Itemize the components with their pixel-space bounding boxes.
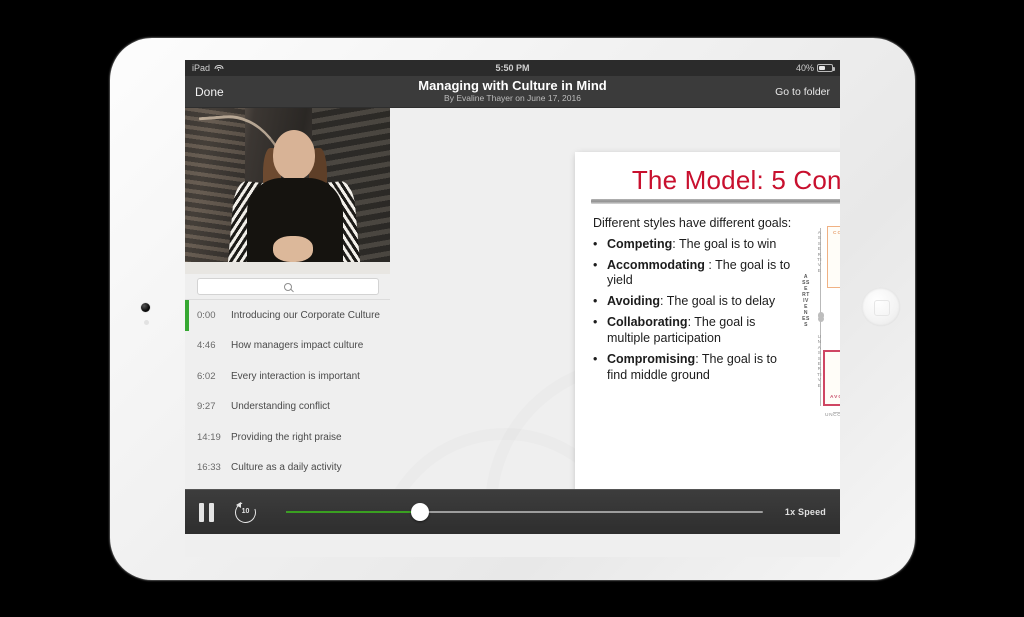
content-area: 0:00 Introducing our Corporate Culture 4… (185, 108, 840, 534)
search-input[interactable] (197, 278, 379, 295)
slide-title: The Model: 5 Conflict Modes (589, 164, 840, 196)
chapter-label: Providing the right praise (231, 432, 342, 443)
list-item: • Collaborating: The goal is multiple pa… (593, 315, 795, 346)
search-icon (284, 283, 292, 291)
chapter-time: 4:46 (197, 340, 231, 351)
slide-intro-text: Different styles have different goals: (593, 216, 795, 232)
bullet-dot-icon: • (593, 352, 607, 383)
mode-label-avoiding: AVOIDING (830, 395, 840, 400)
bullet-dot-icon: • (593, 294, 607, 310)
chapter-time: 6:02 (197, 371, 231, 382)
chapter-label: Understanding conflict (231, 401, 330, 412)
y-axis-low-label: UNASSERTIVE (816, 334, 823, 388)
screenshot-stage: iPad 5:50 PM 40% Done Managing with Cult… (0, 0, 1024, 617)
bullet-text: : The goal is to win (672, 237, 776, 251)
x-axis-low-label: UNCOOPERATIVE (825, 413, 840, 418)
list-item: • Competing: The goal is to win (593, 237, 795, 253)
bullet-term: Accommodating (607, 258, 705, 272)
home-button[interactable] (862, 288, 900, 326)
chapter-time: 0:00 (197, 310, 231, 321)
mode-box-avoiding: AVOIDING (823, 350, 840, 406)
battery-icon (817, 64, 833, 72)
ipad-screen: iPad 5:50 PM 40% Done Managing with Cult… (185, 60, 840, 557)
list-item: • Avoiding: The goal is to delay (593, 294, 795, 310)
chapter-label: How managers impact culture (231, 340, 363, 351)
progress-slider[interactable] (286, 502, 763, 522)
slide-panel[interactable]: The Model: 5 Conflict Modes Different st… (575, 152, 840, 519)
chapter-label: Culture as a daily activity (231, 462, 342, 473)
ambient-sensor-icon (144, 320, 149, 325)
mode-box-competing: COMPETING (827, 226, 840, 288)
chapter-time: 16:33 (197, 462, 231, 473)
sidebar-panel: 0:00 Introducing our Corporate Culture 4… (185, 108, 390, 534)
mode-label-competing: COMPETING (833, 231, 840, 236)
bullet-term: Competing (607, 237, 672, 251)
chapter-label: Introducing our Corporate Culture (231, 310, 380, 321)
bullet-term: Collaborating (607, 315, 688, 329)
status-bar-clock: 5:50 PM (185, 63, 840, 73)
pause-button[interactable] (199, 503, 217, 522)
list-item: • Compromising: The goal is to find midd… (593, 352, 795, 383)
playback-bar: 10 1x Speed (185, 489, 840, 534)
rewind-seconds-label: 10 (235, 508, 256, 515)
search-bar-container (185, 274, 390, 300)
list-item[interactable]: 4:46 How managers impact culture (185, 331, 390, 362)
list-item[interactable]: 14:19 Providing the right praise (185, 422, 390, 453)
bullet-list: • Competing: The goal is to win • Accomm… (593, 237, 795, 384)
course-byline: By Evaline Thayer on June 17, 2016 (185, 93, 840, 104)
chapter-time: 14:19 (197, 432, 231, 443)
bullet-term: Compromising (607, 352, 695, 366)
bullet-dot-icon: • (593, 315, 607, 346)
x-axis-label: COOPERATIVENESS (801, 423, 840, 429)
list-item[interactable]: 9:27 Understanding conflict (185, 392, 390, 423)
status-bar: iPad 5:50 PM 40% (185, 60, 840, 76)
bullet-dot-icon: • (593, 258, 607, 289)
navigation-bar: Done Managing with Culture in Mind By Ev… (185, 76, 840, 108)
progress-knob[interactable] (411, 503, 429, 521)
chapter-list: 0:00 Introducing our Corporate Culture 4… (185, 300, 390, 514)
battery-percent-label: 40% (796, 63, 814, 73)
bullet-text: : The goal is to delay (660, 294, 775, 308)
presenter-video[interactable] (185, 108, 390, 274)
slide-bullets: Different styles have different goals: •… (589, 216, 795, 431)
conflict-mode-diagram: ASSERTIVENESS ASSERTIVE UNASSERTIVE COMP… (801, 216, 840, 431)
go-to-folder-button[interactable]: Go to folder (775, 86, 830, 98)
bullet-dot-icon: • (593, 237, 607, 253)
rewind-10-button[interactable]: 10 (235, 502, 256, 523)
playback-speed-button[interactable]: 1x Speed (785, 507, 826, 517)
y-axis-high-label: ASSERTIVE (816, 230, 823, 273)
front-camera-icon (141, 303, 150, 312)
status-bar-right: 40% (796, 63, 833, 73)
chapter-label: Every interaction is important (231, 371, 360, 382)
navigation-title-block: Managing with Culture in Mind By Evaline… (185, 79, 840, 104)
title-divider (591, 199, 840, 204)
done-button[interactable]: Done (195, 85, 224, 99)
list-item: • Accommodating : The goal is to yield (593, 258, 795, 289)
list-item[interactable]: 16:33 Culture as a daily activity (185, 453, 390, 484)
list-item[interactable]: 0:00 Introducing our Corporate Culture (185, 300, 390, 331)
slide-content: Different styles have different goals: •… (589, 216, 840, 431)
course-title: Managing with Culture in Mind (185, 79, 840, 93)
y-axis-label: ASSERTIVENESS (802, 274, 810, 328)
chapter-time: 9:27 (197, 401, 231, 412)
progress-fill (286, 511, 420, 514)
list-item[interactable]: 6:02 Every interaction is important (185, 361, 390, 392)
bullet-term: Avoiding (607, 294, 660, 308)
